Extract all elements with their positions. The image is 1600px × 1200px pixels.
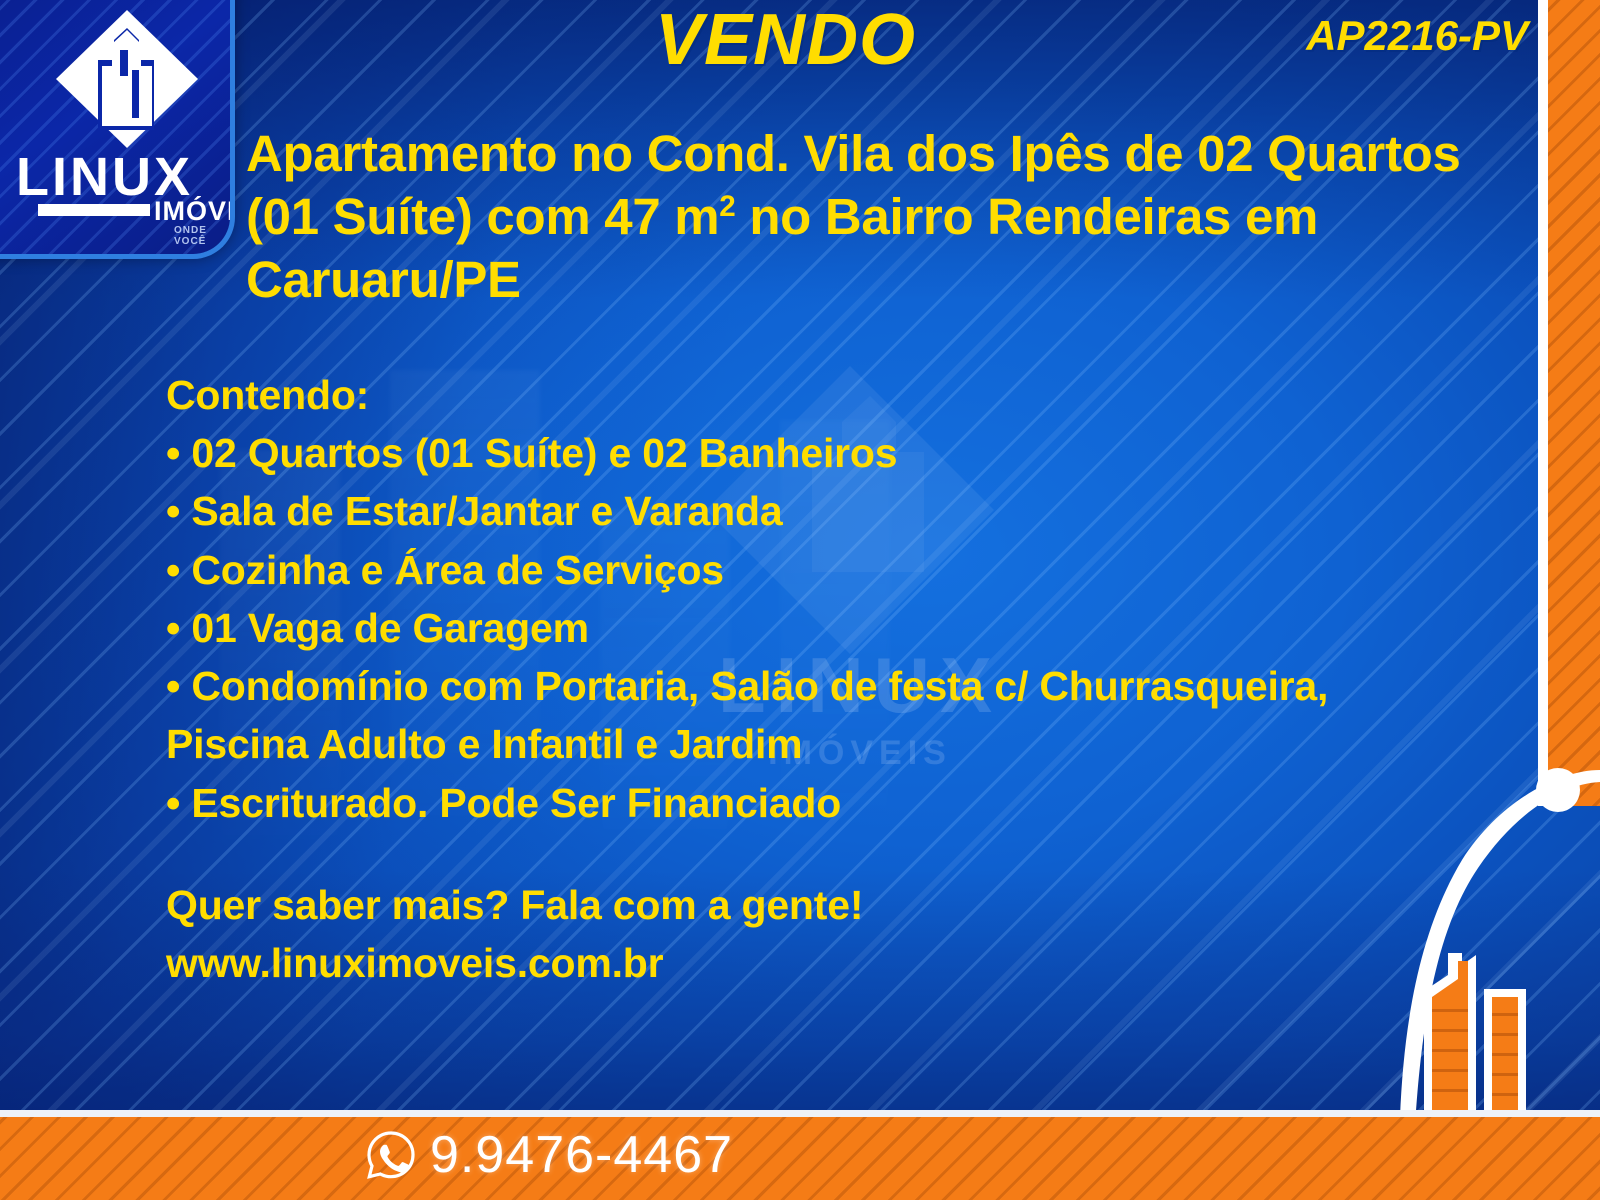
list-item: • 01 Vaga de Garagem [166, 599, 1456, 657]
logo-sub-wordmark: IMÓVEIS [154, 196, 235, 227]
list-item: • Cozinha e Área de Serviços [166, 541, 1456, 599]
details-lead: Contendo: [166, 366, 1456, 424]
contact-cta: Quer saber mais? Fala com a gente! [166, 876, 1456, 934]
building-diamond-icon [54, 8, 200, 150]
list-item: • 02 Quartos (01 Suíte) e 02 Banheiros [166, 424, 1456, 482]
property-details: Contendo: • 02 Quartos (01 Suíte) e 02 B… [166, 366, 1456, 992]
logo-tagline: ONDE VOCÊ [174, 225, 230, 247]
list-item: • Sala de Estar/Jantar e Varanda [166, 482, 1456, 540]
right-strip-hatch [1548, 0, 1600, 806]
contact-bar-hatch [0, 1117, 1600, 1200]
right-orange-strip [1548, 0, 1600, 806]
website-link[interactable]: www.linuximoveis.com.br [166, 934, 1456, 992]
list-item: Piscina Adulto e Infantil e Jardim [166, 715, 1456, 773]
action-label: VENDO [655, 4, 916, 76]
title-line-2-post: no Bairro Rendeiras em [735, 188, 1318, 245]
bottom-white-separator [0, 1110, 1600, 1117]
title-line-1: Apartamento no Cond. Vila dos Ipês de 02… [246, 125, 1461, 182]
property-code: AP2216-PV [1306, 12, 1528, 60]
phone-number: 9.9476-4467 [430, 1129, 733, 1181]
title-line-2-superscript: 2 [719, 190, 735, 223]
logo-underline-bar [38, 204, 150, 216]
contact-bar: 9.9476-4467 [0, 1117, 1600, 1200]
right-strip-white-separator [1538, 0, 1548, 806]
list-item: • Condomínio com Portaria, Salão de fest… [166, 657, 1456, 715]
company-logo-card[interactable]: LINUX IMÓVEIS ONDE VOCÊ [0, 0, 235, 259]
title-line-3: Caruaru/PE [246, 251, 521, 308]
page-title: Apartamento no Cond. Vila dos Ipês de 02… [246, 122, 1546, 312]
whatsapp-icon [366, 1130, 416, 1180]
list-item: • Escriturado. Pode Ser Financiado [166, 774, 1456, 832]
phone-contact[interactable]: 9.9476-4467 [366, 1129, 733, 1181]
title-line-2-pre: (01 Suíte) com 47 m [246, 188, 719, 245]
details-spacer [166, 832, 1456, 876]
property-ad-poster: LINUX IMÓVEIS [0, 0, 1600, 1200]
